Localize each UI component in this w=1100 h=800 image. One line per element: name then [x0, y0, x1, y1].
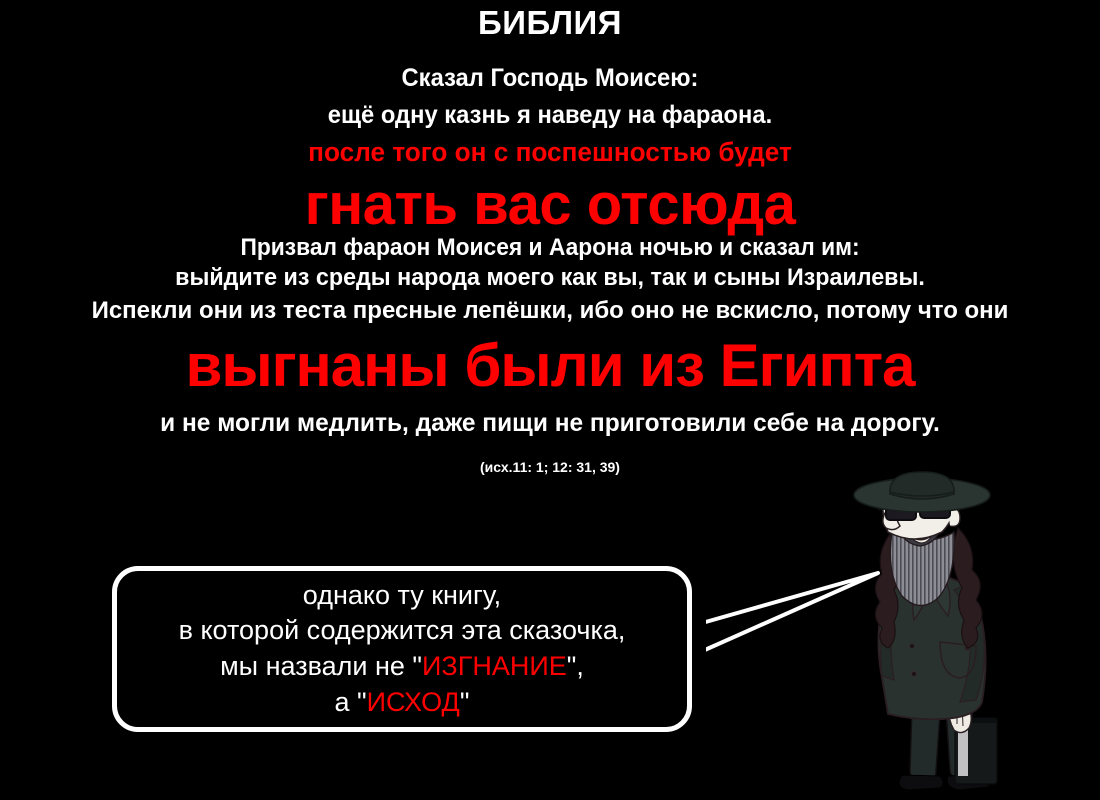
scripture-line-7: и не могли медлить, даже пищи не пригото…	[11, 411, 1089, 436]
scripture-line-3-accent: после того он с поспешностью будет	[17, 139, 1084, 166]
bubble-line-1: однако ту книгу,	[179, 578, 626, 614]
headline-2: выгнаны были из Египта	[0, 336, 1100, 396]
bubble-line-4: а "ИСХОД"	[179, 685, 626, 721]
scripture-line-4: Призвал фараон Моисея и Аарона ночью и с…	[28, 236, 1073, 260]
speech-bubble: однако ту книгу, в которой содержится эт…	[112, 566, 692, 732]
speech-bubble-text: однако ту книгу, в которой содержится эт…	[179, 578, 626, 721]
scripture-line-5: выйдите из среды народа моего как вы, та…	[17, 266, 1084, 290]
scripture-line-6: Испекли они из теста пресные лепёшки, иб…	[0, 299, 1100, 323]
hat	[854, 472, 990, 512]
scripture-line-1: Сказал Господь Моисею:	[28, 66, 1073, 91]
headline-1: гнать вас отсюда	[0, 176, 1100, 234]
bubble-line-2: в которой содержится эта сказочка,	[179, 613, 626, 649]
page-title: БИБЛИЯ	[0, 6, 1100, 39]
character-illustration	[836, 470, 1100, 800]
bubble-line-3: мы назвали не "ИЗГНАНИЕ",	[179, 649, 626, 685]
scripture-line-2: ещё одну казнь я наведу на фараона.	[28, 103, 1073, 128]
poster-canvas: БИБЛИЯ Сказал Господь Моисею: ещё одну к…	[0, 0, 1100, 800]
